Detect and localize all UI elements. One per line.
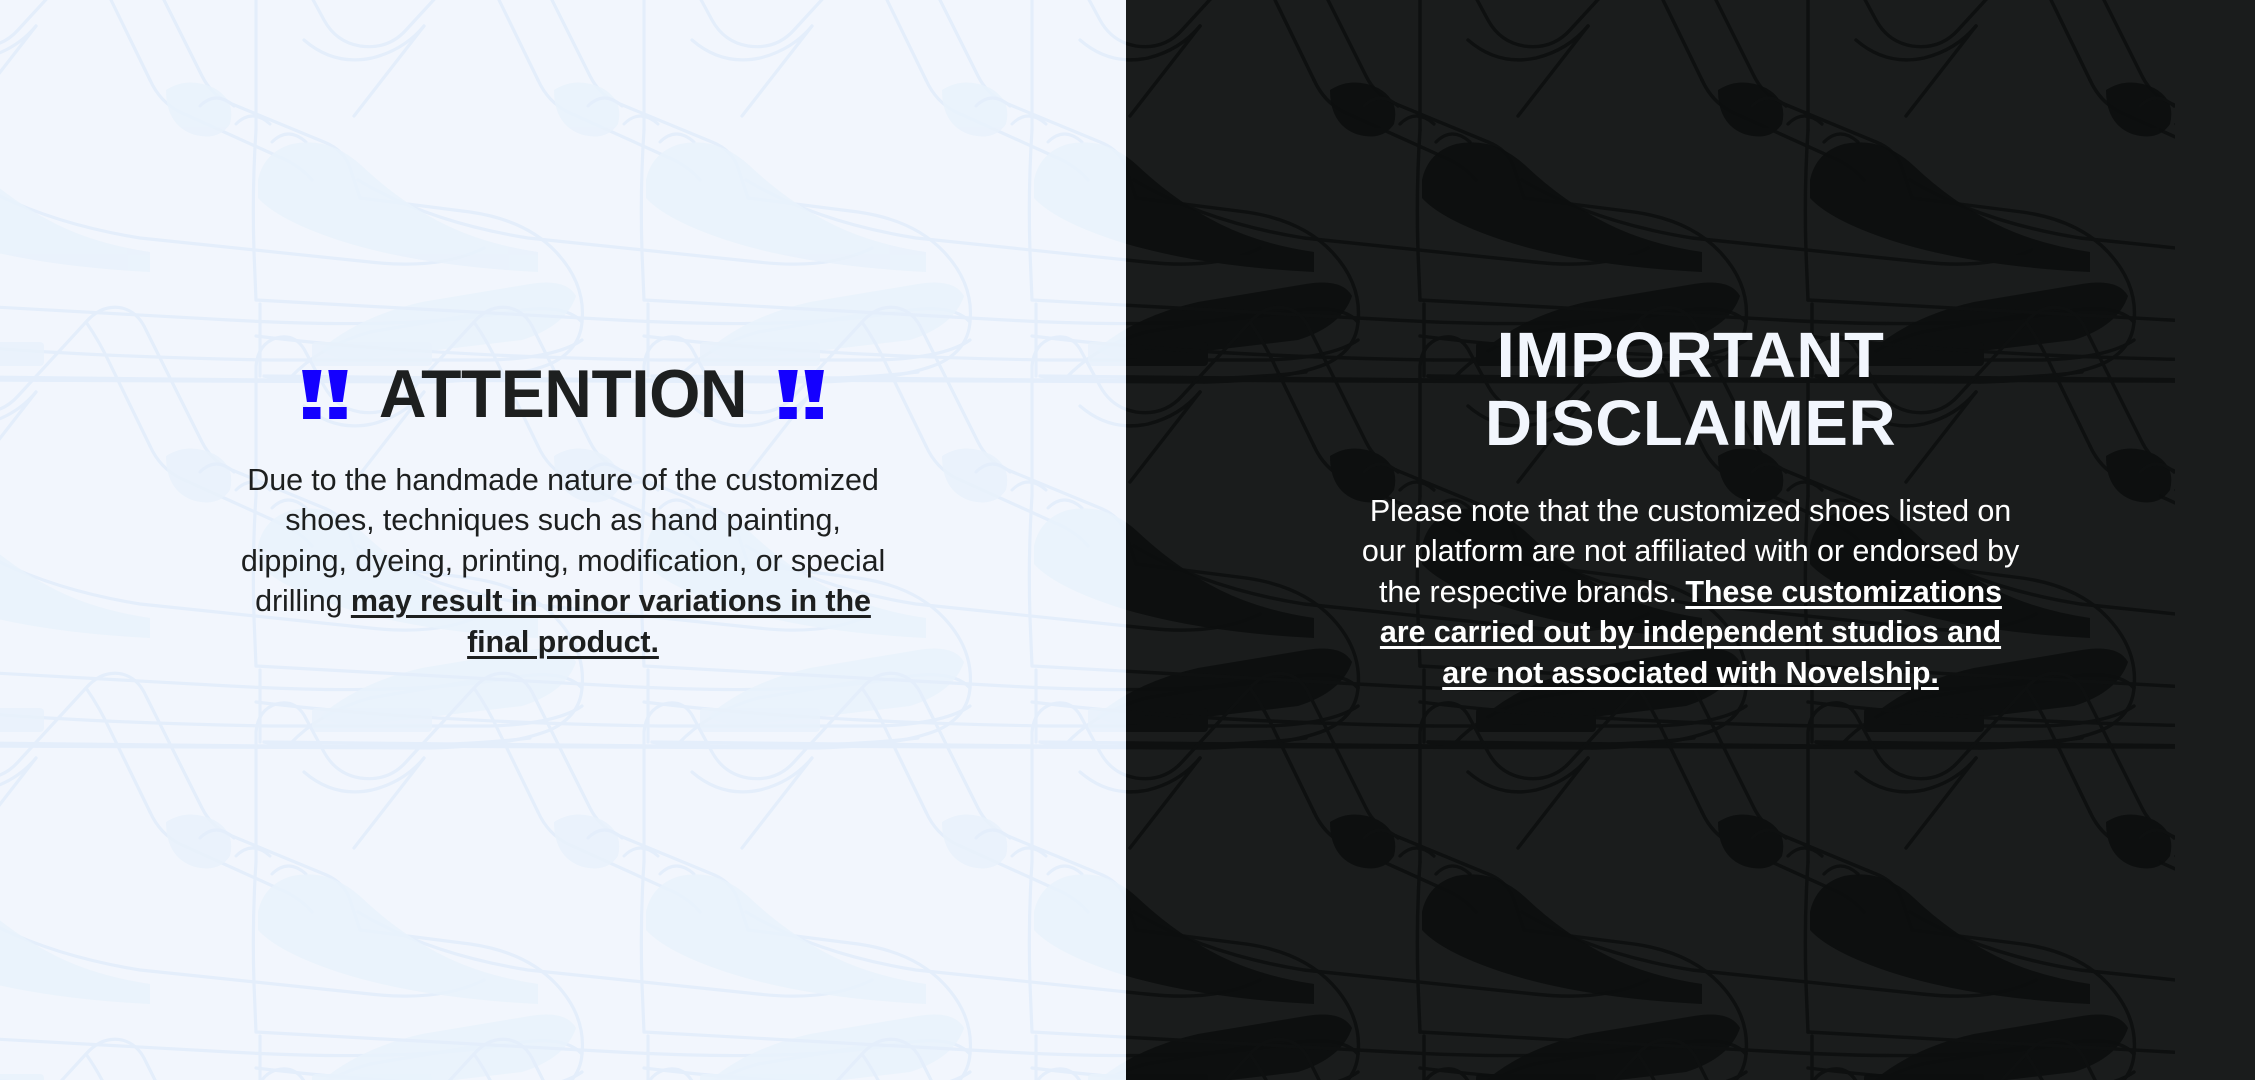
disclaimer-heading-line-1: IMPORTANT <box>1156 322 2226 389</box>
attention-body-emphasis: may result in minor variations in the fi… <box>351 584 871 659</box>
disclaimer-heading: IMPORTANT DISCLAIMER <box>1156 322 2226 456</box>
attention-heading: ATTENTION <box>56 360 1071 428</box>
disclaimer-heading-line-2: DISCLAIMER <box>1156 390 2226 457</box>
attention-content: ATTENTION Due to the handmade nature of … <box>0 360 1126 663</box>
disclaimer-content: IMPORTANT DISCLAIMER Please note that th… <box>1126 322 2255 693</box>
double-exclamation-left-icon <box>300 368 349 420</box>
disclaimer-panel: IMPORTANT DISCLAIMER Please note that th… <box>1126 0 2255 1080</box>
attention-body: Due to the handmade nature of the custom… <box>238 460 888 663</box>
double-exclamation-right-icon <box>776 368 825 420</box>
attention-panel: ATTENTION Due to the handmade nature of … <box>0 0 1126 1080</box>
attention-heading-label: ATTENTION <box>379 360 747 428</box>
disclaimer-banner: ATTENTION Due to the handmade nature of … <box>0 0 2255 1080</box>
disclaimer-body: Please note that the customized shoes li… <box>1361 491 2021 694</box>
